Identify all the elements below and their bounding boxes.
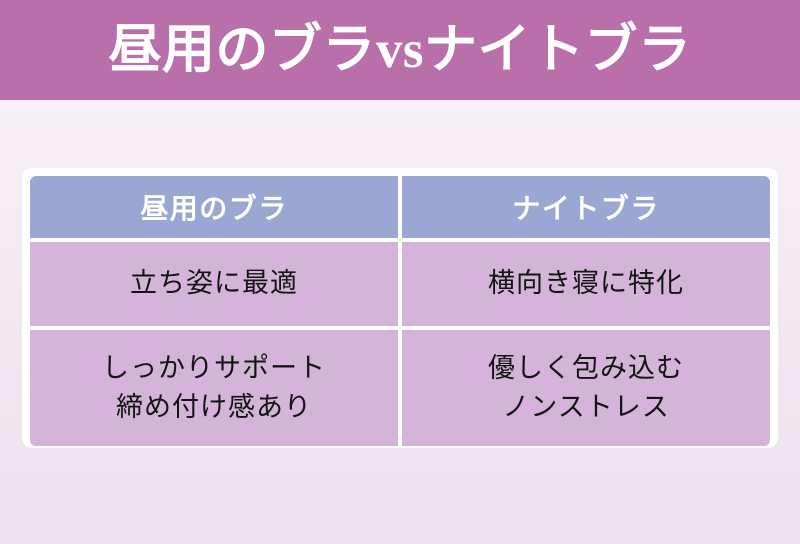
- cell-line: 横向き寝に特化: [410, 264, 762, 303]
- cell-night-feature-1: 横向き寝に特化: [402, 242, 770, 326]
- column-header-night-bra: ナイトブラ: [402, 176, 770, 238]
- header-banner: 昼用のブラvsナイトブラ: [0, 0, 800, 100]
- table-header: 昼用のブラ ナイトブラ: [30, 176, 770, 238]
- cell-line: 立ち姿に最適: [38, 264, 390, 303]
- table-body: 立ち姿に最適 横向き寝に特化 しっかりサポート 締め付け感あり 優しく包み込む …: [30, 242, 770, 446]
- comparison-table: 昼用のブラ ナイトブラ 立ち姿に最適 横向き寝に特化 しっかりサポート 締: [26, 172, 774, 448]
- table-header-row: 昼用のブラ ナイトブラ: [30, 176, 770, 238]
- comparison-table-container: 昼用のブラ ナイトブラ 立ち姿に最適 横向き寝に特化 しっかりサポート 締: [22, 168, 778, 448]
- column-header-daytime-bra: 昼用のブラ: [30, 176, 398, 238]
- table-row: 立ち姿に最適 横向き寝に特化: [30, 242, 770, 326]
- infographic-page: 昼用のブラvsナイトブラ 昼用のブラ ナイトブラ 立ち姿に最適 横向き寝に特化: [0, 0, 800, 544]
- cell-line: 締め付け感あり: [38, 388, 390, 427]
- cell-line: しっかりサポート: [38, 349, 390, 388]
- table-row: しっかりサポート 締め付け感あり 優しく包み込む ノンストレス: [30, 330, 770, 446]
- cell-line: 優しく包み込む: [410, 349, 762, 388]
- cell-daytime-feature-2: しっかりサポート 締め付け感あり: [30, 330, 398, 446]
- cell-daytime-feature-1: 立ち姿に最適: [30, 242, 398, 326]
- cell-night-feature-2: 優しく包み込む ノンストレス: [402, 330, 770, 446]
- page-title: 昼用のブラvsナイトブラ: [108, 24, 691, 77]
- cell-line: ノンストレス: [410, 388, 762, 427]
